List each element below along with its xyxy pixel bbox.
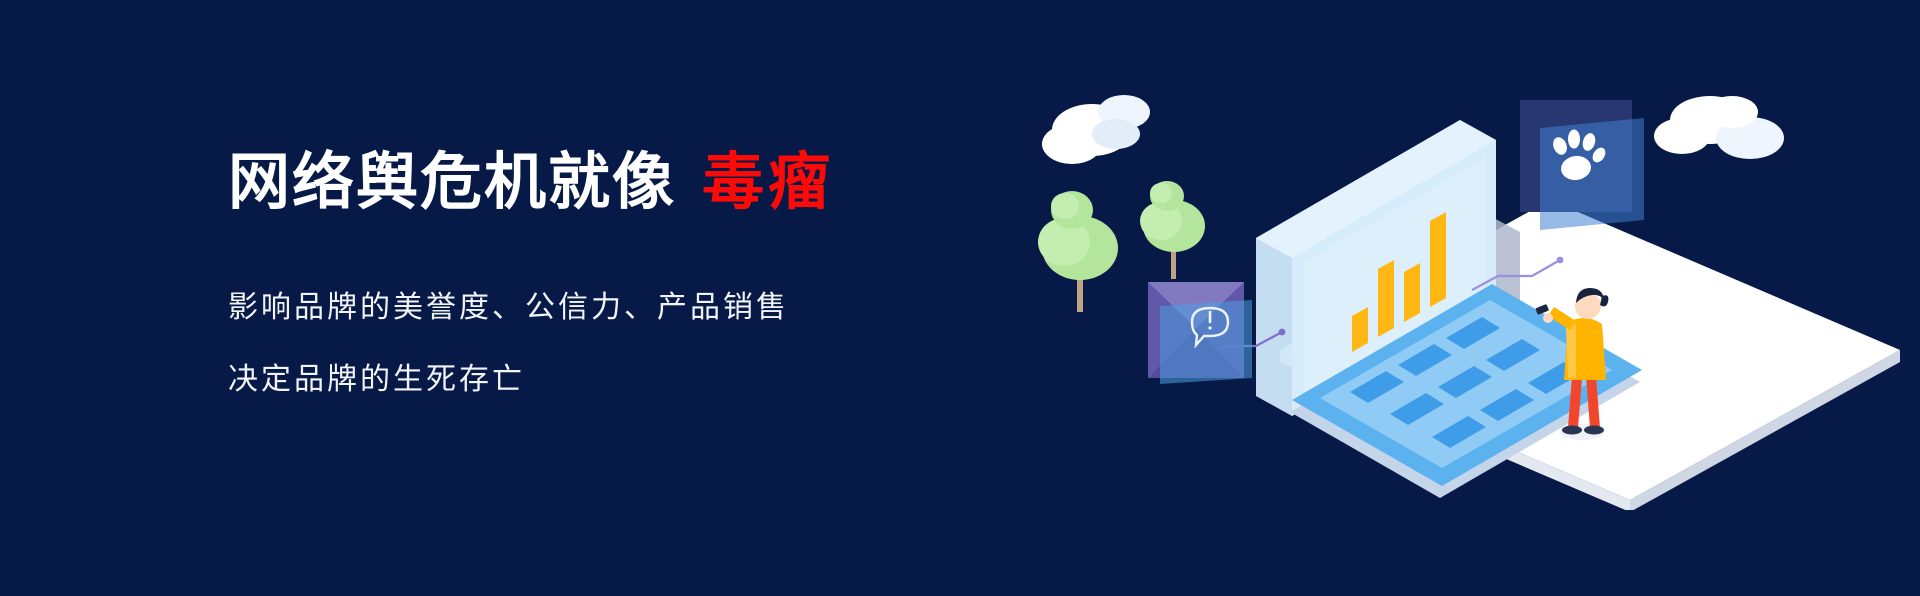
cloud-large-icon (1654, 96, 1784, 159)
isometric-illustration (1020, 60, 1900, 510)
headline-red-text: 毒瘤 (702, 148, 834, 217)
cloud-small-icon (1042, 95, 1150, 164)
alert-bubble-panel (1148, 282, 1252, 384)
cable-right-node (1557, 257, 1564, 264)
headline-white-text: 网络舆危机就像 (228, 148, 676, 217)
tree-left-icon (1038, 191, 1118, 312)
hero-text-block: 网络舆危机就像毒瘤 影响品牌的美誉度、公信力、产品销售 决定品牌的生死存亡 (228, 150, 1048, 395)
hero-banner: 网络舆危机就像毒瘤 影响品牌的美誉度、公信力、产品销售 决定品牌的生死存亡 (0, 0, 1920, 596)
tree-right-icon (1140, 181, 1205, 279)
cable-left-node (1279, 329, 1286, 336)
subtitle-line-2: 决定品牌的生死存亡 (228, 365, 1048, 395)
paw-print-panel (1520, 100, 1644, 230)
subtitle-line-1: 影响品牌的美誉度、公信力、产品销售 (228, 293, 1048, 323)
headline: 网络舆危机就像毒瘤 (228, 150, 1048, 215)
